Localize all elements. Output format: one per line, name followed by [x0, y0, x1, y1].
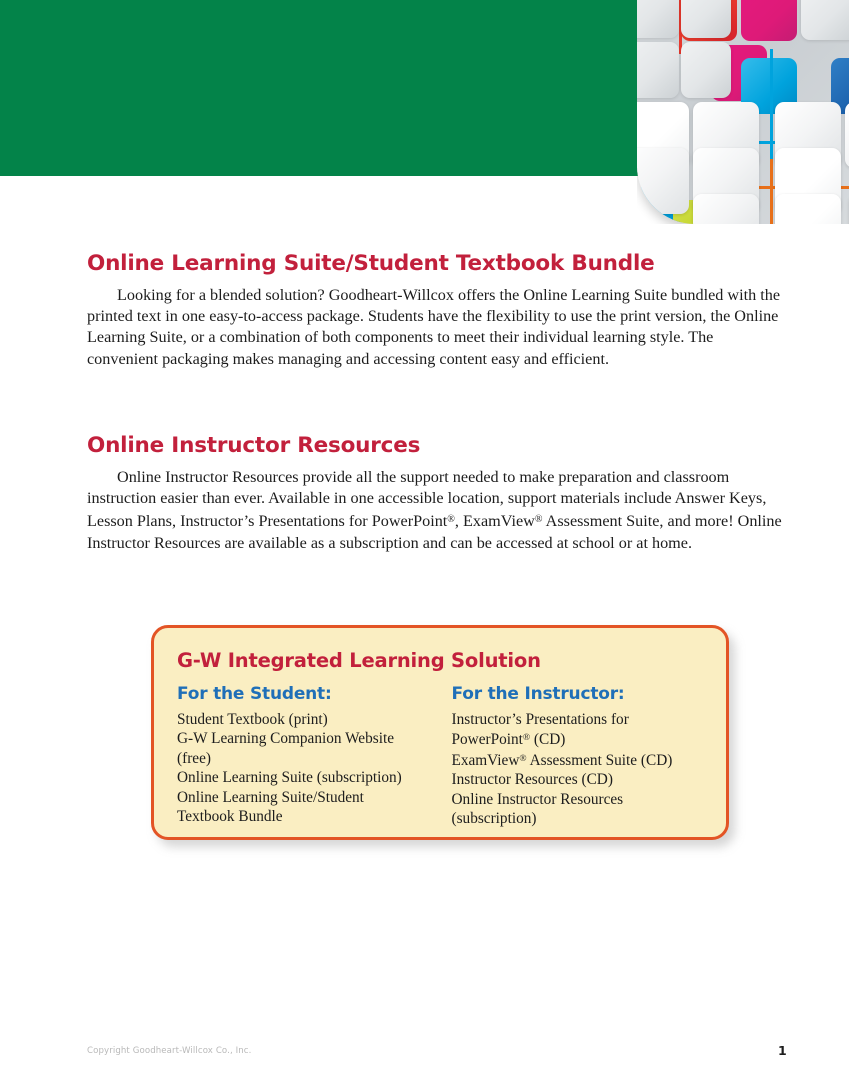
tile-white-r2c3	[845, 102, 849, 168]
list-item: Instructor Resources (CD)	[452, 770, 727, 789]
section-online-learning-suite-bundle: Online Learning Suite/Student Textbook B…	[87, 251, 787, 370]
integrated-learning-solution-callout: G-W Integrated Learning Solution For the…	[151, 625, 729, 840]
registered-mark-icon: ®	[447, 514, 455, 525]
section-heading: Online Instructor Resources	[87, 433, 787, 458]
paragraph-part: , ExamView	[455, 513, 535, 531]
callout-columns: For the Student: Student Textbook (print…	[154, 672, 726, 828]
tile-magenta-1	[741, 0, 797, 41]
document-page: Online Learning Suite/Student Textbook B…	[0, 0, 849, 1087]
registered-mark-icon: ®	[535, 514, 543, 525]
tile-gray-r0c1	[681, 0, 731, 38]
list-item: Student Textbook (print)	[177, 710, 452, 729]
section-paragraph: Looking for a blended solution? Goodhear…	[87, 285, 787, 370]
list-item: Online Instructor Resources (subscriptio…	[452, 790, 727, 829]
column-heading: For the Student:	[177, 684, 452, 704]
item-text-after: Assessment Suite (CD)	[527, 752, 673, 769]
column-for-the-student: For the Student: Student Textbook (print…	[177, 684, 452, 828]
item-text: ExamView	[452, 752, 520, 769]
callout-title: G-W Integrated Learning Solution	[154, 628, 726, 672]
green-header-band	[0, 0, 638, 176]
registered-mark-icon: ®	[523, 733, 530, 743]
accent-line-orange-vertical	[770, 159, 773, 224]
list-item: Online Learning Suite/Student Textbook B…	[177, 788, 452, 827]
list-item: ExamView® Assessment Suite (CD)	[452, 750, 727, 770]
tile-mosaic-graphic	[637, 0, 849, 224]
tile-white-r4c2	[775, 194, 841, 224]
student-item-list: Student Textbook (print) G-W Learning Co…	[177, 710, 452, 826]
footer-page-number: 1	[778, 1043, 787, 1058]
tile-gray-r0c0	[637, 0, 679, 38]
tile-gray-r1c3	[801, 0, 849, 40]
footer-copyright: Copyright Goodheart-Willcox Co., Inc.	[87, 1046, 251, 1056]
tile-mosaic-inner	[637, 0, 849, 224]
tile-white-r4c1	[693, 194, 759, 224]
column-for-the-instructor: For the Instructor: Instructor’s Present…	[452, 684, 727, 828]
section-heading: Online Learning Suite/Student Textbook B…	[87, 251, 787, 276]
column-heading: For the Instructor:	[452, 684, 727, 704]
list-item: Online Learning Suite (subscription)	[177, 768, 452, 787]
section-paragraph: Online Instructor Resources provide all …	[87, 467, 787, 554]
list-item: G-W Learning Companion Website (free)	[177, 729, 452, 768]
tile-gray-r1c1	[681, 42, 731, 98]
section-online-instructor-resources: Online Instructor Resources Online Instr…	[87, 433, 787, 554]
tile-white-r3c0	[637, 148, 689, 214]
tile-gray-r1c0	[637, 42, 679, 98]
callout-box: G-W Integrated Learning Solution For the…	[151, 625, 729, 840]
item-text-after: (CD)	[530, 731, 565, 748]
registered-mark-icon: ®	[519, 754, 526, 764]
list-item: Instructor’s Presentations for PowerPoin…	[452, 710, 727, 750]
instructor-item-list: Instructor’s Presentations for PowerPoin…	[452, 710, 727, 828]
